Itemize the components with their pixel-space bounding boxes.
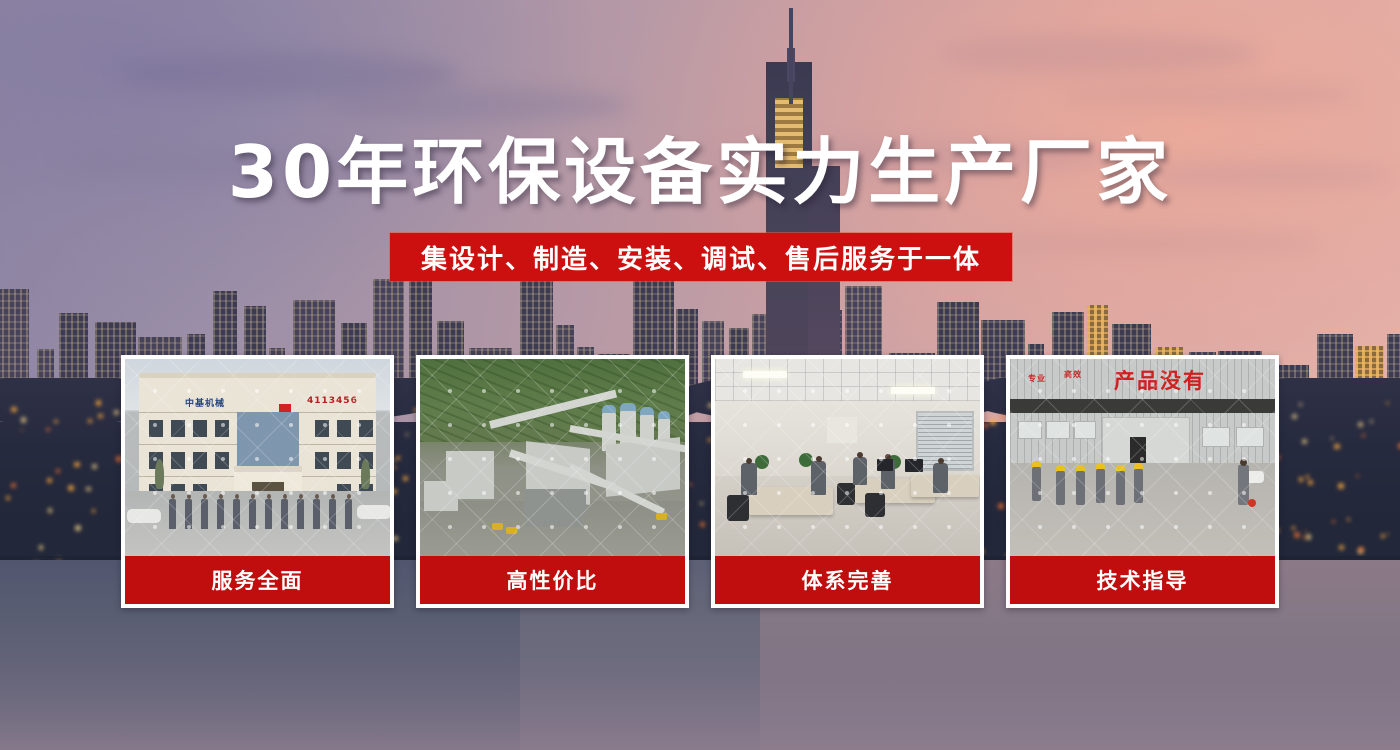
city-light-dot [1292, 414, 1297, 419]
city-light-dot [1358, 422, 1364, 428]
card-photo-office [715, 359, 980, 556]
city-light-dot [1381, 534, 1385, 538]
city-light-dot [1305, 530, 1307, 532]
city-light-dot [11, 483, 16, 488]
banner-stage: 30年环保设备实力生产厂家 集设计、制造、安装、调试、售后服务于一体 [0, 0, 1400, 750]
city-light-dot [114, 410, 119, 415]
building-sign-text: 中基机械 [185, 396, 225, 409]
city-light-dot [1387, 533, 1390, 536]
city-light-dot [1386, 402, 1389, 405]
subtitle-text: 集设计、制造、安装、调试、售后服务于一体 [421, 239, 981, 276]
city-light-dot [1306, 534, 1311, 539]
card-caption: 高性价比 [420, 556, 685, 604]
card-photo-plant [420, 359, 685, 556]
city-light-dot [47, 478, 52, 483]
cloud-icon [980, 232, 1320, 254]
city-light-dot [1306, 475, 1309, 478]
page-title: 30年环保设备实力生产厂家 [0, 132, 1400, 212]
city-light-dot [39, 545, 43, 549]
city-light-dot [75, 525, 81, 531]
feature-card-list: 中基机械 4113456 服务全面 [121, 355, 1279, 608]
factory-slogan-small-text: 高效 [1064, 369, 1082, 380]
card-caption-text: 技术指导 [1097, 565, 1189, 595]
card-photo-headquarters: 中基机械 4113456 [125, 359, 390, 556]
card-caption: 服务全面 [125, 556, 390, 604]
city-light-dot [92, 509, 95, 512]
city-light-dot [1294, 532, 1300, 538]
card-caption-text: 高性价比 [507, 565, 599, 595]
city-light-dot [21, 417, 27, 423]
city-light-dot [1339, 545, 1344, 550]
cloud-icon [330, 88, 630, 122]
factory-slogan-small-text: 专业 [1028, 373, 1046, 384]
city-light-dot [1362, 434, 1365, 437]
city-light-dot [92, 464, 97, 469]
city-light-dot [1338, 483, 1344, 489]
feature-card[interactable]: 中基机械 4113456 服务全面 [121, 355, 394, 608]
city-light-dot [48, 508, 52, 512]
city-light-dot [46, 428, 50, 432]
factory-slogan-text: 产品没有 [1114, 365, 1206, 395]
card-caption-text: 服务全面 [212, 565, 304, 595]
city-light-dot [74, 462, 79, 467]
city-light-dot [54, 420, 58, 424]
city-light-dot [11, 407, 17, 413]
city-light-dot [98, 414, 102, 418]
city-light-dot [88, 419, 92, 423]
city-light-dot [6, 496, 10, 500]
city-light-dot [86, 487, 91, 492]
card-caption: 体系完善 [715, 556, 980, 604]
city-light-dot [1334, 444, 1339, 449]
card-caption-text: 体系完善 [802, 565, 894, 595]
watermark-dot [516, 491, 520, 495]
city-light-dot [1347, 518, 1350, 521]
card-caption: 技术指导 [1010, 556, 1275, 604]
building-phone-text: 4113456 [307, 396, 358, 406]
city-light-dot [1302, 439, 1307, 444]
city-light-dot [21, 429, 23, 431]
city-light-dot [1308, 480, 1313, 485]
card-photo-factory-yard: 产品没有 专业 高效 [1010, 359, 1275, 556]
city-light-dot [1292, 526, 1295, 529]
city-light-dot [96, 400, 101, 405]
cloud-icon [1060, 80, 1360, 110]
city-light-dot [1299, 403, 1302, 406]
city-light-dot [1358, 547, 1364, 553]
city-light-dot [1370, 420, 1373, 423]
feature-card[interactable]: 产品没有 专业 高效 [1006, 355, 1279, 608]
city-light-dot [1299, 477, 1304, 482]
city-light-dot [1356, 475, 1359, 478]
city-light-dot [56, 469, 60, 473]
city-light-dot [68, 485, 74, 491]
feature-card: 体系完善 [711, 355, 984, 608]
city-light-dot [1332, 520, 1335, 523]
subtitle-banner: 集设计、制造、安装、调试、售后服务于一体 [390, 233, 1012, 281]
cloud-icon [940, 34, 1260, 74]
city-light-dot [1331, 437, 1333, 439]
feature-card[interactable]: 高性价比 [416, 355, 689, 608]
tower-spire [789, 8, 793, 104]
